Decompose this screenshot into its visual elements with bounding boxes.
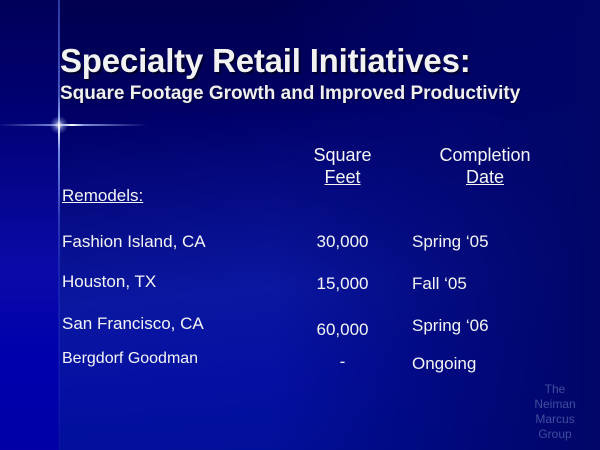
column-header-square-feet-line1: Square (285, 144, 400, 166)
logo-line-group: Group (524, 427, 586, 442)
logo-line-neiman: Neiman (524, 397, 586, 412)
column-header-completion-date: Completion Date (400, 144, 570, 188)
logo-line-marcus: Marcus (524, 412, 586, 427)
column-header-square-feet-line2: Feet (285, 166, 400, 188)
sparkle-ray-horizontal (0, 124, 147, 126)
row-completion-date: Spring ‘06 (412, 316, 572, 336)
row-completion-date: Spring ‘05 (412, 232, 572, 252)
sparkle-core (50, 116, 68, 134)
left-accent-band (0, 0, 59, 450)
row-completion-date: Fall ‘05 (412, 274, 572, 294)
row-square-feet: - (285, 352, 400, 372)
row-square-feet: 60,000 (285, 320, 400, 340)
logo-line-the: The (524, 382, 586, 397)
row-name: Fashion Island, CA (62, 232, 292, 252)
slide-title: Specialty Retail Initiatives: (60, 42, 582, 80)
column-header-square-feet: Square Feet (285, 144, 400, 188)
row-name: Bergdorf Goodman (62, 350, 292, 368)
row-square-feet: 30,000 (285, 232, 400, 252)
title-block: Specialty Retail Initiatives: Square Foo… (60, 42, 582, 106)
column-header-completion-date-line2: Date (400, 166, 570, 188)
section-label-remodels: Remodels: (62, 186, 292, 206)
row-square-feet: 15,000 (285, 274, 400, 294)
neiman-marcus-group-logo: The Neiman Marcus Group (524, 382, 586, 442)
row-completion-date: Ongoing (412, 354, 572, 374)
slide-subtitle: Square Footage Growth and Improved Produ… (60, 82, 582, 106)
row-name: San Francisco, CA (62, 314, 292, 334)
row-name: Houston, TX (62, 272, 292, 292)
sparkle-ray-vertical (58, 95, 60, 217)
slide-canvas: Specialty Retail Initiatives: Square Foo… (0, 0, 600, 450)
column-header-completion-date-line1: Completion (400, 144, 570, 166)
